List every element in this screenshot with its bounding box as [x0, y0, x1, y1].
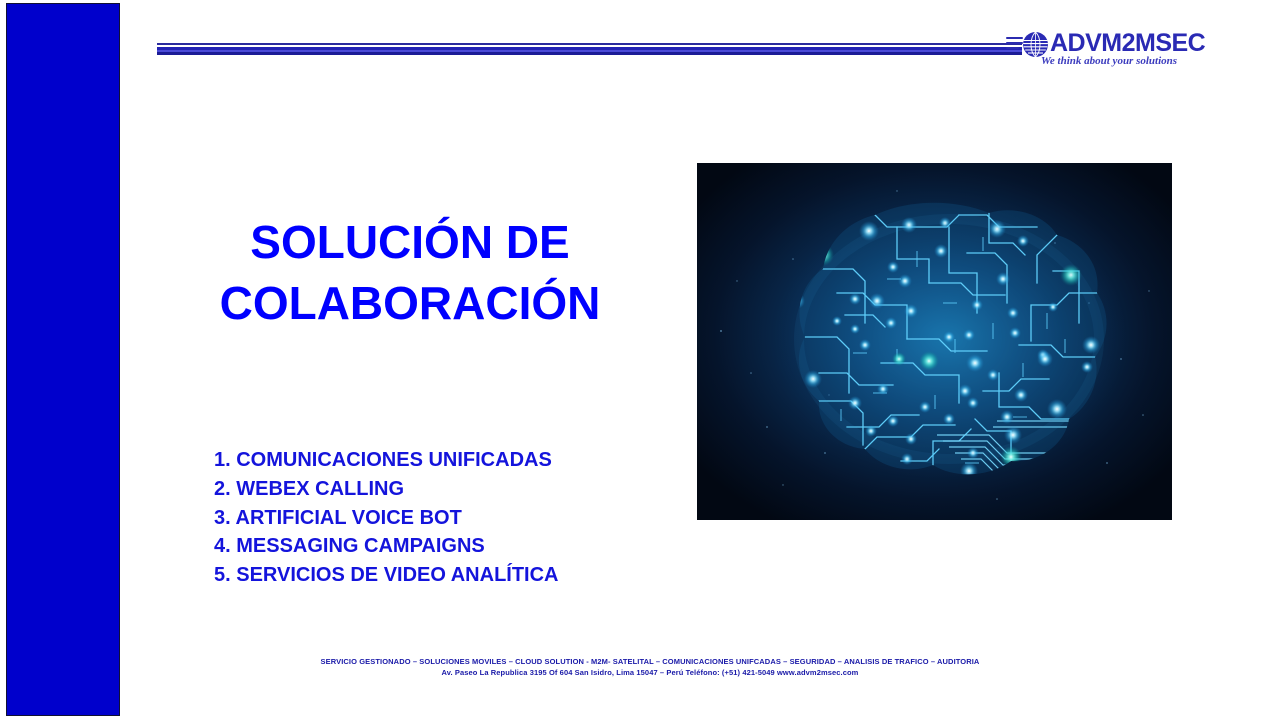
footer: SERVICIO GESTIONADO – SOLUCIONES MOVILES… — [160, 656, 1140, 678]
rule-line-5 — [157, 52, 1022, 55]
list-item: 2. WEBEX CALLING — [214, 475, 684, 504]
footer-address-line: Av. Paseo La Republica 3195 Of 604 San I… — [160, 667, 1140, 678]
title-line-2: COLABORACIÓN — [180, 273, 640, 334]
logo-wordmark: ADVM2MSEC — [1050, 29, 1205, 58]
list-item: 4. MESSAGING CAMPAIGNS — [214, 532, 684, 561]
numbered-list: 1. COMUNICACIONES UNIFICADAS 2. WEBEX CA… — [214, 446, 684, 590]
globe-icon — [1022, 31, 1049, 58]
footer-services-line: SERVICIO GESTIONADO – SOLUCIONES MOVILES… — [160, 656, 1140, 667]
title-line-1: SOLUCIÓN DE — [180, 212, 640, 273]
circuit-brain-image — [697, 163, 1172, 520]
company-logo: ADVM2MSEC We think about your solutions — [1006, 30, 1182, 72]
header-decorative-rule — [157, 43, 1022, 56]
list-item: 5. SERVICIOS DE VIDEO ANALÍTICA — [214, 561, 684, 590]
logo-tagline: We think about your solutions — [1036, 55, 1182, 67]
list-item: 3. ARTIFICIAL VOICE BOT — [214, 504, 684, 533]
list-item: 1. COMUNICACIONES UNIFICADAS — [214, 446, 684, 475]
page-title: SOLUCIÓN DE COLABORACIÓN — [180, 212, 640, 334]
presentation-slide: ADVM2MSEC We think about your solutions … — [0, 0, 1280, 720]
logo-dashes-icon — [1006, 37, 1023, 51]
sidebar-color-band — [6, 3, 120, 716]
